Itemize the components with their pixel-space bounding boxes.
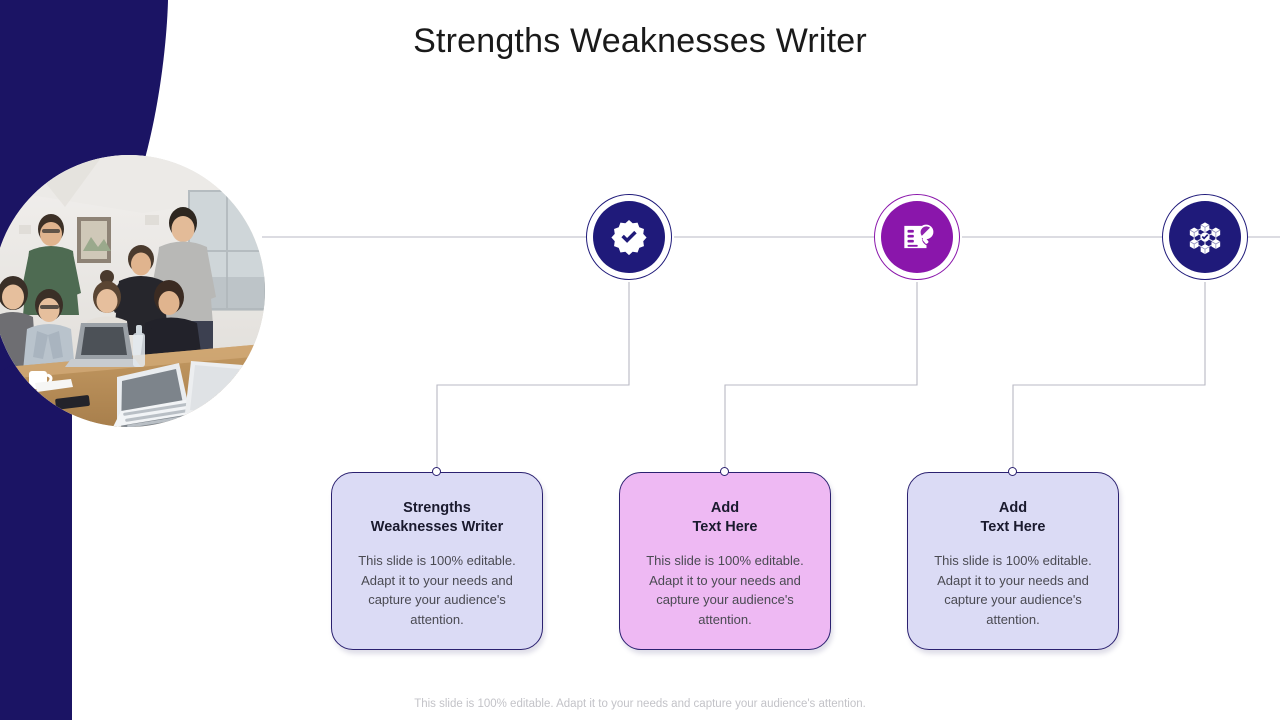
icon-badge-1[interactable] bbox=[586, 194, 672, 280]
info-card-3[interactable]: Add Text Here This slide is 100% editabl… bbox=[907, 472, 1119, 650]
network-nodes-check-icon bbox=[1169, 201, 1241, 273]
verified-badge-icon bbox=[593, 201, 665, 273]
slide-root: Strengths Weaknesses Writer bbox=[0, 0, 1280, 720]
info-card-3-title: Add Text Here bbox=[926, 499, 1100, 537]
page-title: Strengths Weaknesses Writer bbox=[160, 22, 1120, 61]
info-card-1[interactable]: Strengths Weaknesses Writer This slide i… bbox=[331, 472, 543, 650]
info-card-2-title-line1: Add bbox=[638, 499, 812, 518]
connector-path-3 bbox=[1013, 282, 1205, 471]
node-dot-2 bbox=[720, 467, 729, 476]
footer-note: This slide is 100% editable. Adapt it to… bbox=[0, 698, 1280, 710]
info-card-2[interactable]: Add Text Here This slide is 100% editabl… bbox=[619, 472, 831, 650]
node-dot-1 bbox=[432, 467, 441, 476]
info-card-1-title-line2: Weaknesses Writer bbox=[350, 518, 524, 537]
info-card-3-body: This slide is 100% editable. Adapt it to… bbox=[926, 551, 1100, 629]
info-card-1-title: Strengths Weaknesses Writer bbox=[350, 499, 524, 537]
info-card-2-body: This slide is 100% editable. Adapt it to… bbox=[638, 551, 812, 629]
team-photo bbox=[0, 155, 265, 427]
team-photo-illustration bbox=[0, 155, 265, 427]
connector-path-1 bbox=[437, 282, 629, 471]
info-card-1-body: This slide is 100% editable. Adapt it to… bbox=[350, 551, 524, 629]
icon-badge-3[interactable] bbox=[1162, 194, 1248, 280]
node-dot-3 bbox=[1008, 467, 1017, 476]
info-card-2-title-line2: Text Here bbox=[638, 518, 812, 537]
connector-path-2 bbox=[725, 282, 917, 471]
icon-badge-2[interactable] bbox=[874, 194, 960, 280]
document-edit-icon bbox=[881, 201, 953, 273]
info-card-3-title-line1: Add bbox=[926, 499, 1100, 518]
info-card-2-title: Add Text Here bbox=[638, 499, 812, 537]
info-card-1-title-line1: Strengths bbox=[350, 499, 524, 518]
info-card-3-title-line2: Text Here bbox=[926, 518, 1100, 537]
